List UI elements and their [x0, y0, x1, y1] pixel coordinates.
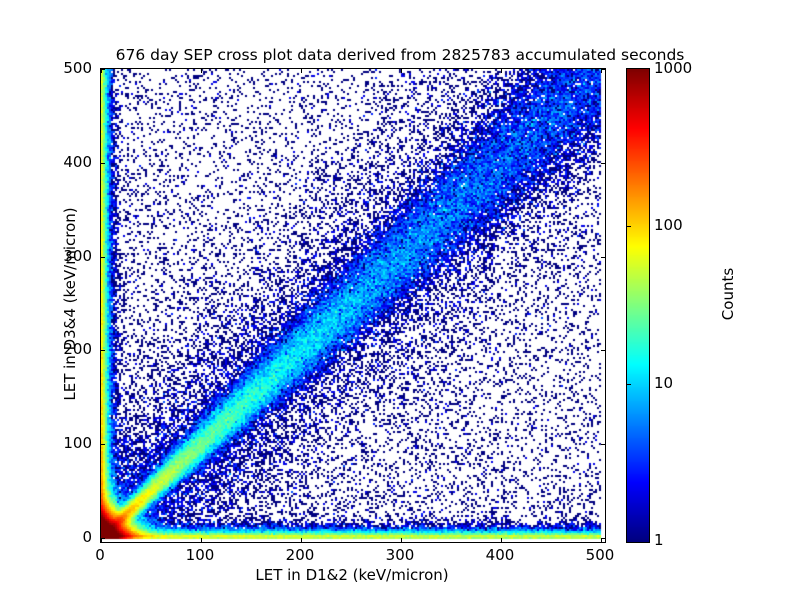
colorbar-ticklabel-1: 1	[654, 531, 664, 549]
x-ticklabel-400: 400	[460, 546, 540, 564]
x-tick-top-200	[301, 69, 302, 73]
colorbar[interactable]	[626, 68, 650, 543]
y-tick-right-200	[601, 350, 605, 351]
y-tick-200	[101, 350, 105, 351]
figure-canvas: 676 day SEP cross plot data derived from…	[0, 0, 800, 600]
y-tick-right-300	[601, 257, 605, 258]
y-tick-100	[101, 444, 105, 445]
colorbar-label: Counts	[719, 174, 737, 414]
y-tick-right-0	[601, 538, 605, 539]
x-ticklabel-200: 200	[260, 546, 340, 564]
y-ticklabel-100: 100	[12, 434, 92, 452]
y-tick-right-500	[601, 69, 605, 70]
x-tick-top-100	[201, 69, 202, 73]
x-tick-top-400	[501, 69, 502, 73]
x-ticklabel-300: 300	[360, 546, 440, 564]
colorbar-tick-100	[627, 226, 631, 227]
colorbar-ticklabel-100: 100	[654, 216, 683, 234]
y-ticklabel-400: 400	[12, 153, 92, 171]
x-tick-100	[201, 538, 202, 542]
y-ticklabel-300: 300	[12, 247, 92, 265]
y-ticklabel-500: 500	[12, 59, 92, 77]
colorbar-ticklabel-10: 10	[654, 374, 673, 392]
x-tick-400	[501, 538, 502, 542]
x-axis-label: LET in D1&2 (keV/micron)	[100, 566, 604, 584]
x-ticklabel-100: 100	[160, 546, 240, 564]
y-tick-300	[101, 257, 105, 258]
y-tick-right-400	[601, 163, 605, 164]
colorbar-ticklabel-1000: 1000	[654, 59, 692, 77]
colorbar-tick-10	[627, 384, 631, 385]
x-tick-top-300	[401, 69, 402, 73]
y-tick-right-100	[601, 444, 605, 445]
y-ticklabel-0: 0	[12, 528, 92, 546]
x-ticklabel-0: 0	[60, 546, 140, 564]
x-ticklabel-500: 500	[560, 546, 640, 564]
y-ticklabel-200: 200	[12, 340, 92, 358]
y-tick-400	[101, 163, 105, 164]
scatter-heatmap	[101, 69, 605, 542]
x-tick-300	[401, 538, 402, 542]
y-tick-500	[101, 69, 105, 70]
colorbar-gradient	[627, 69, 649, 542]
x-tick-200	[301, 538, 302, 542]
plot-area[interactable]	[100, 68, 606, 543]
y-tick-0	[101, 538, 105, 539]
